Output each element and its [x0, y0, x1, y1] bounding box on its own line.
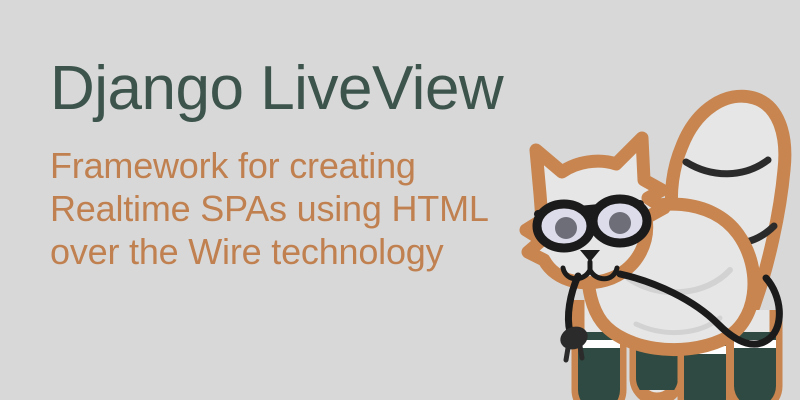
banner: Django LiveView Framework for creating R…	[0, 0, 800, 400]
text-block: Django LiveView Framework for creating R…	[50, 56, 520, 273]
right-pupil	[609, 212, 631, 234]
subtitle-line-2: Realtime SPAs using HTML	[50, 187, 520, 230]
page-subtitle: Framework for creating Realtime SPAs usi…	[50, 144, 520, 273]
cat-mascot-illustration	[516, 38, 800, 400]
page-title: Django LiveView	[50, 56, 520, 122]
subtitle-line-3: over the Wire technology	[50, 230, 520, 273]
left-pupil	[555, 217, 577, 239]
subtitle-line-1: Framework for creating	[50, 144, 520, 187]
